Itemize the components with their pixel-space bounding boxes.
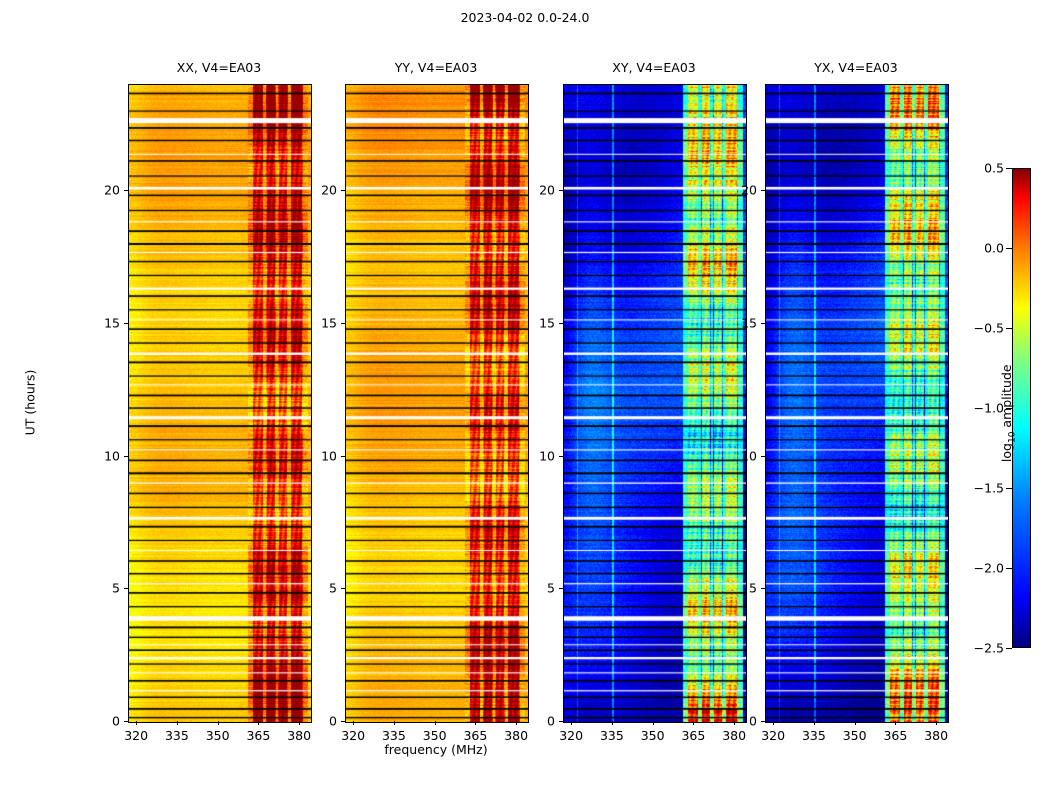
y-tick [761,190,765,191]
y-tick [761,721,765,722]
panel-title-yy: YY, V4=EA03 [345,60,527,75]
y-tick-label: 0 [80,714,120,729]
x-tick-label: 320 [559,728,583,743]
panel-yx[interactable] [765,84,949,723]
figure-suptitle: 2023-04-02 0.0-24.0 [0,10,1050,25]
x-tick-label: 335 [802,728,826,743]
y-tick-label: 15 [297,315,337,330]
colorbar-tick [1006,168,1012,169]
x-tick [435,721,436,725]
flag-overlay-xx [129,85,311,722]
x-tick [218,721,219,725]
panel-xy[interactable] [563,84,747,723]
colorbar-title: log10 amplitude [999,313,1018,513]
x-tick-label: 350 [641,728,665,743]
x-tick [693,721,694,725]
y-tick-label: 20 [80,183,120,198]
y-tick-label: 10 [80,448,120,463]
x-axis-label: frequency (MHz) [345,742,527,757]
x-tick [773,721,774,725]
y-tick-label: 10 [297,448,337,463]
y-tick [341,721,345,722]
y-tick [124,456,128,457]
figure-canvas: 2023-04-02 0.0-24.0 XX, V4=EA03 YY, V4=E… [0,0,1050,800]
y-tick [559,588,563,589]
y-tick-label: 0 [297,714,337,729]
y-tick [761,323,765,324]
colorbar-tick-label: −1.0 [960,401,1004,416]
colorbar-tick [1006,648,1012,649]
y-tick [341,190,345,191]
panel-xx[interactable] [128,84,312,723]
x-tick-label: 365 [463,728,487,743]
x-tick-label: 380 [722,728,746,743]
y-tick [559,190,563,191]
x-tick [612,721,613,725]
x-tick [814,721,815,725]
y-tick-label: 5 [80,581,120,596]
x-tick-label: 320 [124,728,148,743]
colorbar-tick-label: −1.5 [960,481,1004,496]
flag-overlay-xy [564,85,746,722]
x-tick-label: 350 [843,728,867,743]
y-axis-label: UT (hours) [23,323,38,483]
x-tick [394,721,395,725]
colorbar-tick-label: −2.5 [960,641,1004,656]
y-tick [761,588,765,589]
y-tick-label: 0 [717,714,757,729]
y-tick-label: 5 [717,581,757,596]
x-tick [258,721,259,725]
y-tick [124,323,128,324]
x-tick [855,721,856,725]
panel-title-xy: XY, V4=EA03 [563,60,745,75]
y-tick [124,721,128,722]
colorbar-tick-label: −0.5 [960,321,1004,336]
flag-overlay-yy [346,85,528,722]
panel-title-xx: XX, V4=EA03 [128,60,310,75]
colorbar-tick-label: 0.5 [960,161,1004,176]
panel-yy[interactable] [345,84,529,723]
x-tick [177,721,178,725]
y-tick [341,456,345,457]
x-tick-label: 335 [382,728,406,743]
x-tick [895,721,896,725]
y-tick-label: 10 [717,448,757,463]
y-tick-label: 20 [515,183,555,198]
y-tick-label: 0 [515,714,555,729]
y-tick [124,588,128,589]
x-tick [475,721,476,725]
y-tick-label: 15 [80,315,120,330]
x-tick-label: 380 [504,728,528,743]
colorbar-tick [1006,568,1012,569]
x-tick [653,721,654,725]
flag-overlay-yx [766,85,948,722]
x-tick [936,721,937,725]
y-tick [559,323,563,324]
colorbar-tick-label: −2.0 [960,561,1004,576]
x-tick [353,721,354,725]
x-tick-label: 380 [924,728,948,743]
y-tick-label: 20 [297,183,337,198]
y-tick [559,456,563,457]
y-tick [559,721,563,722]
y-tick-label: 20 [717,183,757,198]
colorbar-title-text: log10 amplitude [999,364,1014,462]
y-tick [124,190,128,191]
x-tick-label: 350 [206,728,230,743]
panel-title-yx: YX, V4=EA03 [765,60,947,75]
y-tick-label: 15 [515,315,555,330]
colorbar-tick-label: 0.0 [960,241,1004,256]
x-tick-label: 365 [883,728,907,743]
x-tick-label: 365 [246,728,270,743]
x-tick [571,721,572,725]
x-tick-label: 350 [423,728,447,743]
x-tick-label: 380 [287,728,311,743]
x-tick-label: 320 [761,728,785,743]
x-tick-label: 320 [341,728,365,743]
colorbar-tick [1006,248,1012,249]
x-tick [136,721,137,725]
x-tick-label: 335 [165,728,189,743]
x-tick-label: 335 [600,728,624,743]
y-tick-label: 5 [515,581,555,596]
y-tick-label: 10 [515,448,555,463]
y-tick-label: 15 [717,315,757,330]
y-tick-label: 5 [297,581,337,596]
y-tick [761,456,765,457]
x-tick-label: 365 [681,728,705,743]
y-tick [341,588,345,589]
y-tick [341,323,345,324]
